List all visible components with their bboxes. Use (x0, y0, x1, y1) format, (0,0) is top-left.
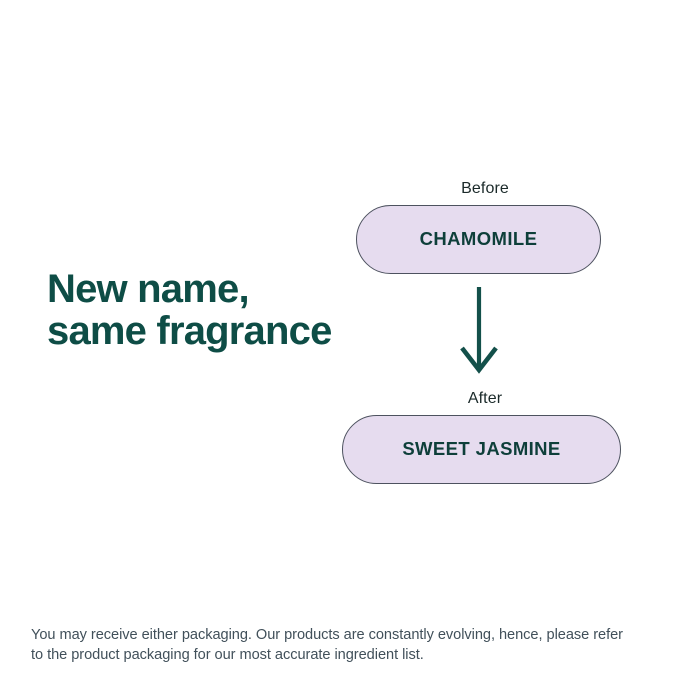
after-product-name: SWEET JASMINE (402, 440, 560, 459)
before-product-pill: CHAMOMILE (356, 205, 601, 274)
before-product-name: CHAMOMILE (420, 230, 538, 249)
packaging-disclaimer: You may receive either packaging. Our pr… (31, 625, 631, 665)
after-product-pill: SWEET JASMINE (342, 415, 621, 484)
rename-diagram: Before CHAMOMILE After SWEET JASMINE (330, 170, 640, 490)
page-title: New name, same fragrance (47, 268, 337, 352)
down-arrow-icon (449, 285, 509, 377)
after-label: After (330, 389, 640, 408)
before-label: Before (330, 179, 640, 198)
packaging-change-notice: New name, same fragrance Before CHAMOMIL… (0, 0, 679, 679)
